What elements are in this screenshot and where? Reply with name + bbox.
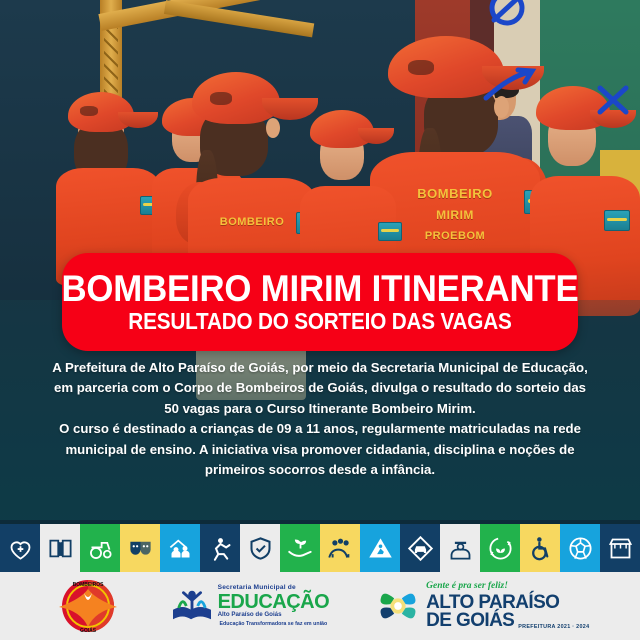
footer-logos: BOMBEIROS GOIÁS Secretaria Municipal de …	[0, 572, 640, 640]
icon-tile-sports-athlete-icon[interactable]	[200, 524, 240, 572]
education-logo-line2: EDUCAÇÃO	[218, 592, 330, 612]
city-hall-logo: Gente é pra ser feliz! ALTO PARAÍSO DE G…	[375, 582, 589, 630]
city-logo-slogan: Gente é pra ser feliz!	[426, 582, 589, 592]
culture-masks-icon	[127, 535, 154, 562]
icon-tile-roadworks-sign-icon[interactable]	[360, 524, 400, 572]
social-assistance-icon	[167, 535, 194, 562]
city-logo-mark	[375, 585, 421, 627]
poster: BOMBEIRO BOMBEIRO MIRIM PROEBOM	[0, 0, 640, 640]
announcement-line-3: 50 vagas para o Curso Itinerante Bombeir…	[26, 399, 614, 419]
icon-tile-accessibility-wheelchair-icon[interactable]	[520, 524, 560, 572]
civil-guard-officer-icon	[447, 535, 474, 562]
city-logo-line2: DE GOIÁS	[426, 612, 514, 630]
education-logo-tagline: Educação Transformadora se faz em união	[218, 621, 330, 627]
announcement-text: A Prefeitura de Alto Paraíso de Goiás, p…	[26, 358, 614, 481]
environment-hand-plant-icon	[287, 535, 314, 562]
icon-tile-traffic-car-icon[interactable]	[400, 524, 440, 572]
cbm-logo-top-text: BOMBEIROS	[72, 582, 104, 588]
education-department-logo: Secretaria Municipal de EDUCAÇÃO Alto Pa…	[171, 585, 330, 627]
accessibility-wheelchair-icon	[527, 535, 554, 562]
announcement-line-1: A Prefeitura de Alto Paraíso de Goiás, p…	[26, 358, 614, 378]
announcement-line-4: O curso é destinado a crianças de 09 a 1…	[26, 419, 614, 439]
health-heart-icon	[7, 535, 34, 562]
icon-tile-civil-guard-officer-icon[interactable]	[440, 524, 480, 572]
education-logo-mark	[171, 587, 213, 625]
title-banner: BOMBEIRO MIRIM ITINERANTE RESULTADO DO S…	[62, 253, 578, 351]
banner-title: BOMBEIRO MIRIM ITINERANTE	[62, 271, 579, 307]
announcement-line-6: primeiros socorros desde a infância.	[26, 460, 614, 480]
education-book-icon	[47, 535, 74, 562]
fire-department-logo: BOMBEIROS GOIÁS	[51, 577, 125, 635]
icon-tile-agriculture-tractor-icon[interactable]	[80, 524, 120, 572]
icon-tile-recycling-leaf-icon[interactable]	[480, 524, 520, 572]
sports-athlete-icon	[207, 535, 234, 562]
icon-tile-sports-ball-icon[interactable]	[560, 524, 600, 572]
icon-tile-environment-hand-plant-icon[interactable]	[280, 524, 320, 572]
icon-tile-health-heart-icon[interactable]	[0, 524, 40, 572]
sports-ball-icon	[567, 535, 594, 562]
announcement-line-2: em parceria com o Corpo de Bombeiros de …	[26, 378, 614, 398]
icon-tile-commerce-store-icon[interactable]	[600, 524, 640, 572]
commerce-store-icon	[607, 535, 634, 562]
community-people-icon	[327, 535, 354, 562]
recycling-leaf-icon	[487, 535, 514, 562]
announcement-line-5: municipal de ensino. A iniciativa visa p…	[26, 440, 614, 460]
icon-tile-security-shield-icon[interactable]	[240, 524, 280, 572]
cbm-logo-bottom-text: GOIÁS	[80, 627, 97, 634]
doodle-x-icon	[600, 88, 626, 112]
roadworks-sign-icon	[367, 535, 394, 562]
department-icon-strip	[0, 524, 640, 572]
doodle-arrow-icon	[486, 70, 532, 98]
icon-tile-education-book-icon[interactable]	[40, 524, 80, 572]
security-shield-icon	[247, 535, 274, 562]
city-logo-term: PREFEITURA 2021 · 2024	[518, 625, 589, 630]
icon-tile-community-people-icon[interactable]	[320, 524, 360, 572]
icon-tile-culture-masks-icon[interactable]	[120, 524, 160, 572]
banner-subtitle: RESULTADO DO SORTEIO DAS VAGAS	[128, 310, 511, 333]
traffic-car-icon	[407, 535, 434, 562]
icon-tile-social-assistance-icon[interactable]	[160, 524, 200, 572]
agriculture-tractor-icon	[87, 535, 114, 562]
